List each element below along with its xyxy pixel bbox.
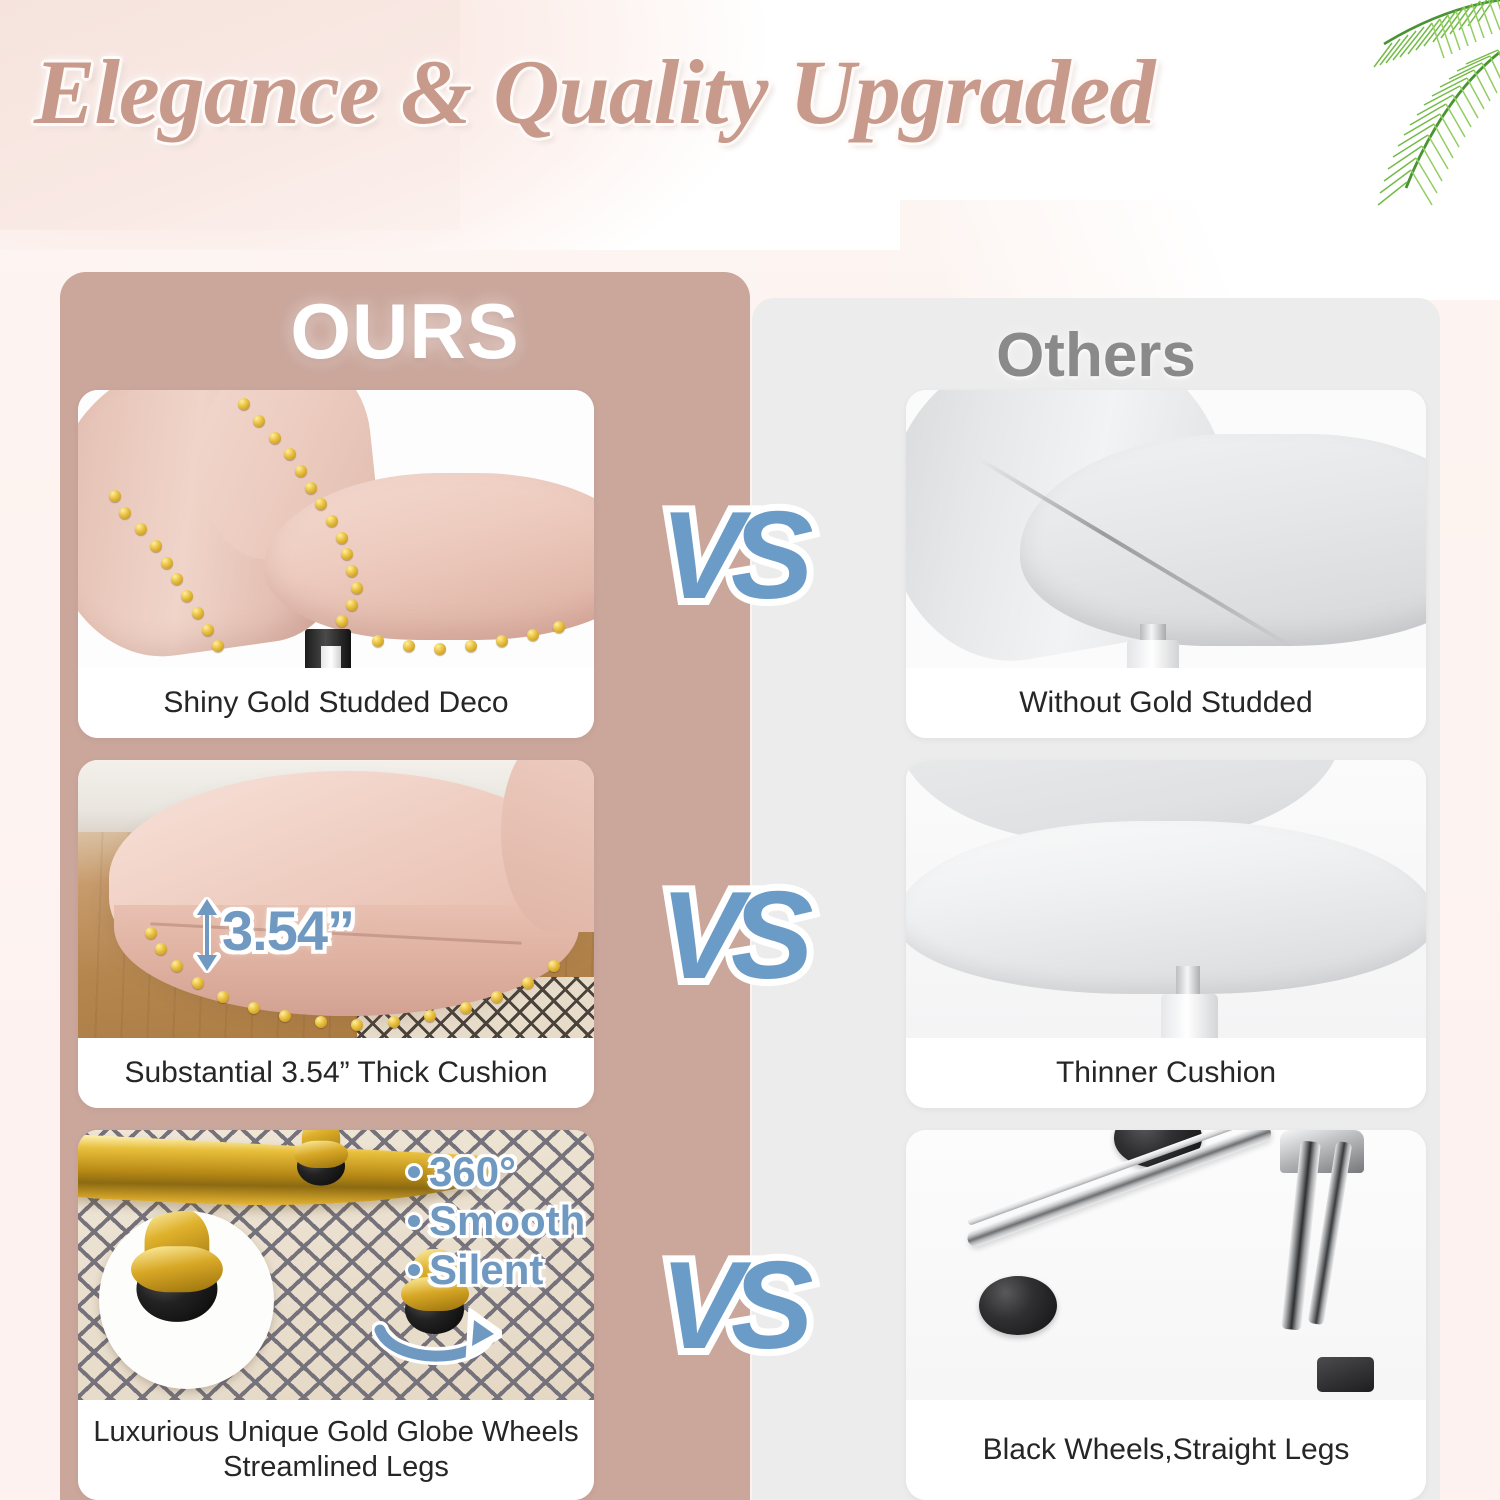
photo-pink-studded-chair <box>78 390 594 668</box>
bullet-dot-icon <box>408 1264 420 1276</box>
black-caster-icon <box>979 1276 1057 1335</box>
ours-caption-row3-line1: Luxurious Unique Gold Globe Wheels <box>93 1415 578 1450</box>
photo-gray-chair-plain <box>906 390 1426 668</box>
feature-bullet-item: 360° <box>408 1148 585 1195</box>
gold-globe-wheel <box>292 1130 351 1186</box>
ours-caption-row3: Luxurious Unique Gold Globe Wheels Strea… <box>78 1400 594 1500</box>
others-card-no-studs[interactable]: Without Gold Studded <box>906 390 1426 738</box>
ours-card-studded-deco[interactable]: Shiny Gold Studded Deco <box>78 390 594 738</box>
bullet-dot-icon <box>408 1166 420 1178</box>
wheel-detail-inset <box>99 1211 274 1389</box>
others-card-thin-cushion[interactable]: Thinner Cushion <box>906 760 1426 1108</box>
double-arrow-vertical-icon <box>190 896 224 974</box>
ours-caption-row2: Substantial 3.54” Thick Cushion <box>78 1038 594 1108</box>
others-caption-row1: Without Gold Studded <box>906 668 1426 738</box>
feature-bullet-item: Silent <box>408 1246 585 1293</box>
others-card-black-wheels[interactable]: Black Wheels,Straight Legs <box>906 1130 1426 1500</box>
page-title: Elegance & Quality Upgraded <box>34 32 1364 152</box>
others-caption-row3: Black Wheels,Straight Legs <box>906 1400 1426 1500</box>
photo-thin-gray-cushion <box>906 760 1426 1038</box>
ours-caption-row1: Shiny Gold Studded Deco <box>78 668 594 738</box>
others-column-header: Others <box>752 320 1440 391</box>
curved-rotation-arrow-icon <box>372 1308 502 1378</box>
others-caption-row2: Thinner Cushion <box>906 1038 1426 1108</box>
photo-chrome-legs-black-casters <box>906 1130 1426 1400</box>
gold-studs-group <box>78 390 594 668</box>
ours-caption-row3-line2: Streamlined Legs <box>223 1450 449 1485</box>
feature-bullet-item: Smooth <box>408 1197 585 1244</box>
feature-bullet-label: Silent <box>429 1246 543 1293</box>
black-foot-pad <box>1317 1357 1374 1392</box>
feature-bullet-list: 360° Smooth Silent <box>408 1148 585 1295</box>
ours-column-header: OURS <box>60 286 750 377</box>
feature-bullet-label: 360° <box>429 1148 516 1195</box>
feature-bullet-label: Smooth <box>429 1197 585 1244</box>
bullet-dot-icon <box>408 1215 420 1227</box>
cushion-thickness-label: 3.54” <box>222 898 354 963</box>
